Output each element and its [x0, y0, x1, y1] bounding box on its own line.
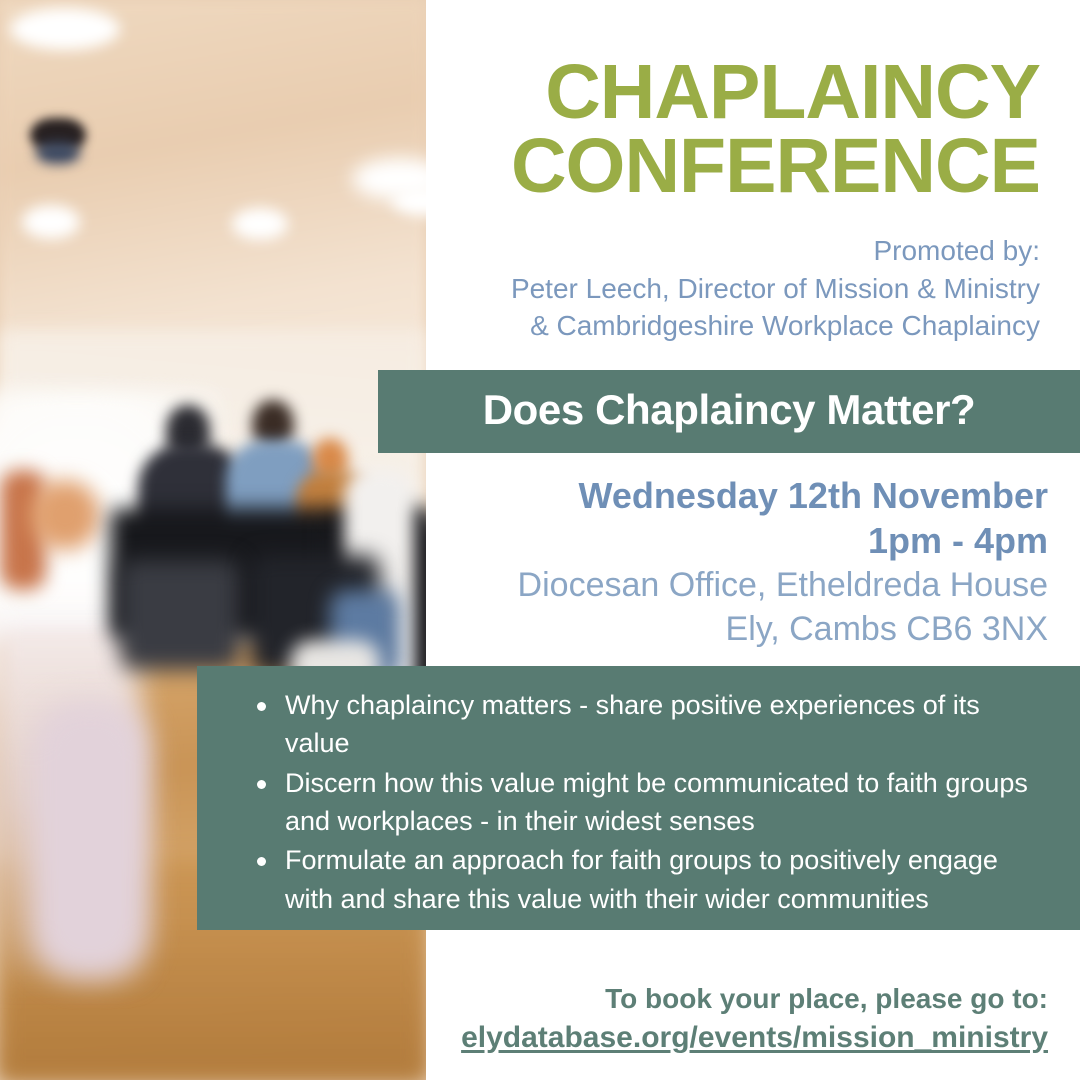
- list-item: Formulate an approach for faith groups t…: [253, 841, 1050, 918]
- ceiling-light-icon: [22, 205, 80, 239]
- page-title: CHAPLAINCY CONFERENCE: [400, 56, 1040, 204]
- promoter-line-1: Peter Leech, Director of Mission & Minis…: [380, 270, 1040, 308]
- booking-block: To book your place, please go to: elydat…: [348, 980, 1048, 1058]
- booking-url-row: elydatabase.org/events/mission_ministry: [348, 1018, 1048, 1059]
- booking-url-link[interactable]: elydatabase.org/events/mission_ministry: [461, 1018, 1048, 1059]
- photo-person-silhouette: [30, 480, 100, 550]
- event-date: Wednesday 12th November: [348, 473, 1048, 518]
- promoter-line-2: & Cambridgeshire Workplace Chaplaincy: [380, 307, 1040, 345]
- list-item: Discern how this value might be communic…: [253, 764, 1050, 841]
- ceiling-fixture: [36, 142, 80, 164]
- event-venue-line-2: Ely, Cambs CB6 3NX: [348, 607, 1048, 651]
- promoted-by-block: Promoted by: Peter Leech, Director of Mi…: [380, 232, 1040, 345]
- headline-line-2: CONFERENCE: [400, 130, 1040, 204]
- event-venue-line-1: Diocesan Office, Etheldreda House: [348, 563, 1048, 607]
- list-item: Why chaplaincy matters - share positive …: [253, 686, 1050, 763]
- event-title-banner: Does Chaplaincy Matter?: [378, 370, 1080, 453]
- event-details-block: Wednesday 12th November 1pm - 4pm Dioces…: [348, 473, 1048, 651]
- ceiling-light-icon: [232, 208, 288, 240]
- event-time: 1pm - 4pm: [348, 518, 1048, 563]
- agenda-block: Why chaplaincy matters - share positive …: [197, 666, 1080, 930]
- photo-foreground-blur: [30, 700, 150, 980]
- photo-person-silhouette: [120, 560, 240, 670]
- promoted-by-label: Promoted by:: [380, 232, 1040, 270]
- ceiling-light-icon: [10, 8, 120, 50]
- booking-prompt: To book your place, please go to:: [348, 980, 1048, 1018]
- event-title-text: Does Chaplaincy Matter?: [483, 389, 976, 434]
- poster-canvas: CHAPLAINCY CONFERENCE Promoted by: Peter…: [0, 0, 1080, 1080]
- agenda-list: Why chaplaincy matters - share positive …: [253, 686, 1050, 918]
